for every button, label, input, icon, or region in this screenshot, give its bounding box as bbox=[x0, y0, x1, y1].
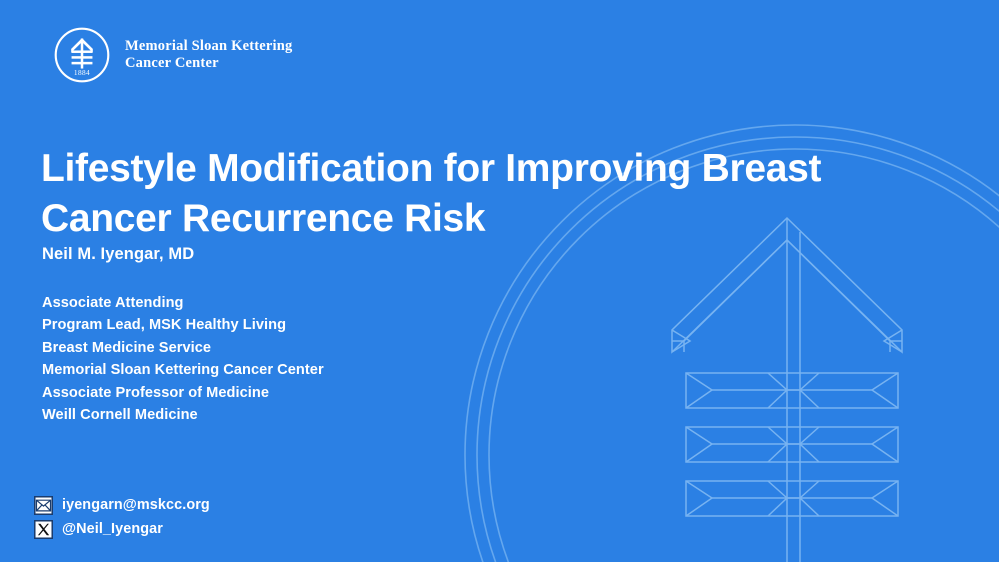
msk-tree-logo-icon: 1884 bbox=[53, 26, 111, 84]
contact-list: iyengarn@mskcc.org @Neil_Iyengar bbox=[34, 493, 210, 541]
affiliation-list: Associate Attending Program Lead, MSK He… bbox=[42, 292, 324, 426]
msk-wordmark: Memorial Sloan Kettering Cancer Center bbox=[125, 38, 293, 72]
slide-title: Lifestyle Modification for Improving Bre… bbox=[41, 144, 831, 244]
title-slide: 1884 Memorial Sloan Kettering Cancer Cen… bbox=[0, 0, 999, 562]
affiliation-line: Memorial Sloan Kettering Cancer Center bbox=[42, 359, 324, 381]
affiliation-line: Associate Professor of Medicine bbox=[42, 382, 324, 404]
watermark-tree-mark bbox=[672, 218, 902, 562]
x-twitter-icon bbox=[34, 520, 53, 539]
msk-logo-lockup: 1884 Memorial Sloan Kettering Cancer Cen… bbox=[53, 26, 293, 84]
envelope-icon bbox=[34, 496, 53, 515]
contact-email-label: iyengarn@mskcc.org bbox=[62, 497, 210, 513]
contact-social-label: @Neil_Iyengar bbox=[62, 521, 163, 537]
logo-established-year: 1884 bbox=[74, 68, 90, 77]
affiliation-line: Associate Attending bbox=[42, 292, 324, 314]
presenter-name: Neil M. Iyengar, MD bbox=[42, 245, 194, 264]
background-watermark bbox=[0, 0, 999, 562]
contact-row-social[interactable]: @Neil_Iyengar bbox=[34, 517, 210, 541]
affiliation-line: Breast Medicine Service bbox=[42, 337, 324, 359]
contact-row-email[interactable]: iyengarn@mskcc.org bbox=[34, 493, 210, 517]
affiliation-line: Weill Cornell Medicine bbox=[42, 404, 324, 426]
affiliation-line: Program Lead, MSK Healthy Living bbox=[42, 314, 324, 336]
